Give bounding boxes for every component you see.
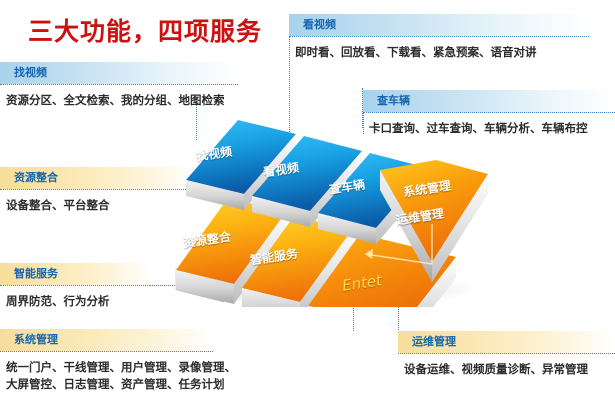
callout-intelligent-service: 智能服务 周界防范、行为分析 xyxy=(0,263,150,310)
callout-body-system-management: 统一门户、干线管理、用户管理、录像管理、 大屏管控、日志管理、资产管理、任务计划 xyxy=(0,352,213,393)
callout-body-intelligent-service: 周界防范、行为分析 xyxy=(0,286,150,310)
callout-header-check-vehicle: 查车辆 xyxy=(363,90,615,112)
cubes-svg xyxy=(160,112,490,307)
callout-header-ops-management: 运维管理 xyxy=(398,331,615,353)
callout-body-find-video: 资源分区、全文检索、我的分组、地图检索 xyxy=(0,85,238,109)
callout-ops-management: 运维管理 设备运维、视频质量诊断、异常管理 xyxy=(398,331,615,378)
callout-body-watch-video: 即时看、回放看、下载看、紧急预案、语音对讲 xyxy=(289,37,589,61)
callout-header-system-management: 系统管理 xyxy=(0,329,213,351)
slide-canvas: 三大功能，四项服务 找视频 资源分区、全文检索、我的分组、地图检索 看视频 即时… xyxy=(0,0,615,407)
callout-header-intelligent-service: 智能服务 xyxy=(0,263,150,285)
page-title: 三大功能，四项服务 xyxy=(28,12,262,48)
callout-body-ops-management: 设备运维、视频质量诊断、异常管理 xyxy=(398,354,615,378)
callout-watch-video: 看视频 即时看、回放看、下载看、紧急预案、语音对讲 xyxy=(289,14,589,61)
callout-header-watch-video: 看视频 xyxy=(289,14,589,36)
isometric-block-diagram: 找视频 看视频 查车辆 资源整合 智能服务 系统管理 运维管理 Entet xyxy=(160,112,490,307)
callout-find-video: 找视频 资源分区、全文检索、我的分组、地图检索 xyxy=(0,62,238,109)
callout-system-management: 系统管理 统一门户、干线管理、用户管理、录像管理、 大屏管控、日志管理、资产管理… xyxy=(0,329,213,393)
callout-header-find-video: 找视频 xyxy=(0,62,238,84)
